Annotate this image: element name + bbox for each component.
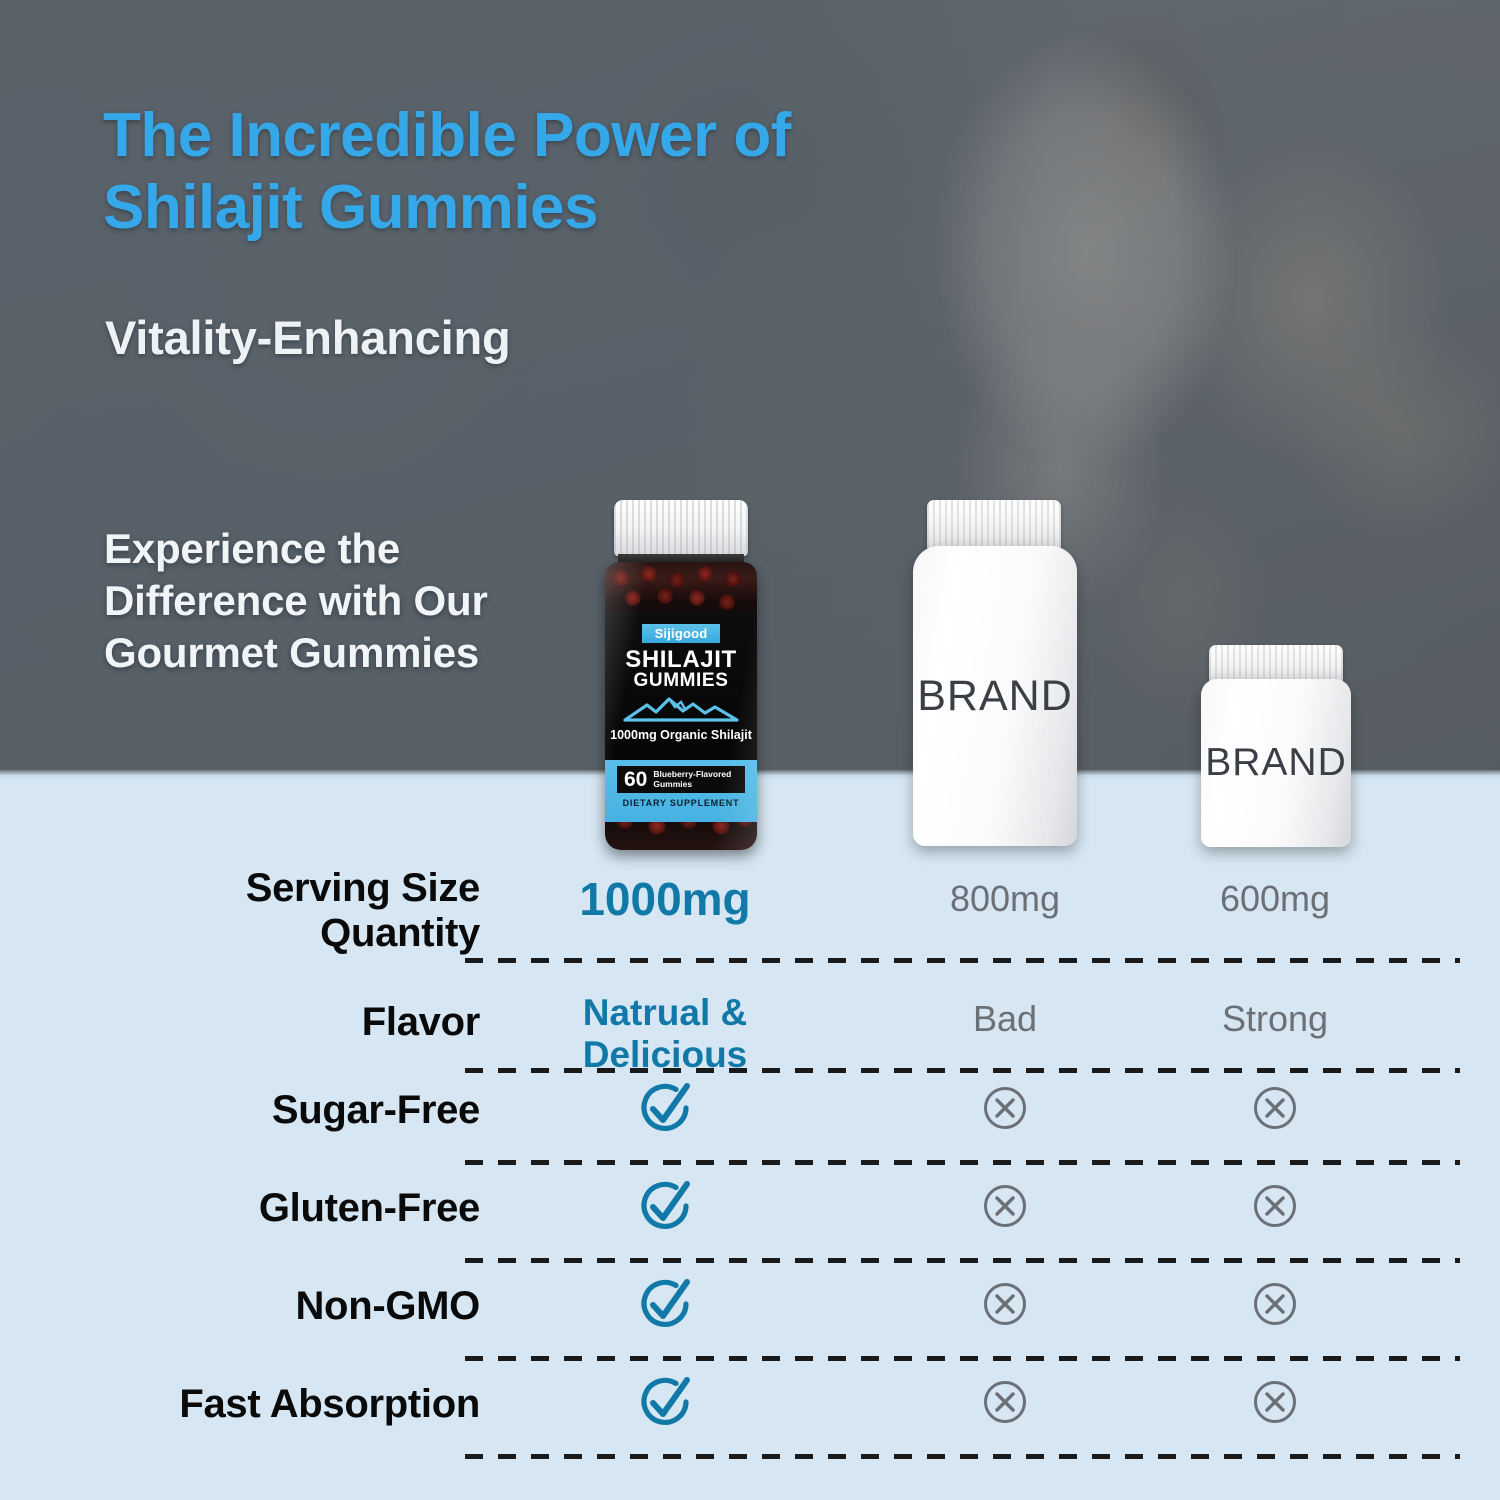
brand-a-value-1: Bad [880, 998, 1130, 1040]
row-label-line-1: Gluten-Free [90, 1186, 480, 1231]
infographic-canvas: The Incredible Power of Shilajit Gummies… [0, 0, 1500, 1500]
headline-line-1: The Incredible Power of [103, 100, 1003, 172]
row-label-line-1: Serving Size [90, 866, 480, 911]
ours-value-3 [500, 1177, 830, 1240]
brand-a-value-3 [880, 1183, 1130, 1234]
brand-badge: Sijigood [642, 624, 720, 643]
competitor-b-cap [1209, 645, 1343, 683]
check-icon [636, 1275, 694, 1333]
row-separator-2 [465, 1160, 1460, 1165]
row-separator-1 [465, 1068, 1460, 1073]
row-separator-4 [465, 1356, 1460, 1361]
brand-b-value-5 [1150, 1379, 1400, 1430]
cross-icon [1252, 1379, 1298, 1425]
row-label-line-1: Flavor [90, 1000, 480, 1045]
row-label-5: Fast Absorption [90, 1382, 480, 1427]
row-label-line-1: Fast Absorption [90, 1382, 480, 1427]
page-title: The Incredible Power of Shilajit Gummies [103, 100, 1003, 244]
brand-b-value-1: Strong [1150, 998, 1400, 1040]
check-icon [636, 1177, 694, 1235]
headline-line-2: Shilajit Gummies [103, 172, 1003, 244]
ours-value-4 [500, 1275, 830, 1338]
cross-icon [982, 1085, 1028, 1131]
product-label-dark: Sijigood SHILAJIT GUMMIES 1000mg Organic… [605, 612, 757, 760]
brand-name: Sijigood [655, 626, 708, 641]
row-label-4: Non-GMO [90, 1284, 480, 1329]
ours-value-5 [500, 1373, 830, 1436]
row-separator-3 [465, 1258, 1460, 1263]
row-label-0: Serving SizeQuantity [90, 866, 480, 956]
mountain-icon [623, 696, 739, 727]
brand-b-value-2 [1150, 1085, 1400, 1136]
brand-a-value-0: 800mg [880, 878, 1130, 920]
brand-b-value-4 [1150, 1281, 1400, 1332]
check-icon [636, 1373, 694, 1431]
pitch-line-1: Experience the [104, 523, 584, 575]
pitch-line-3: Gourmet Gummies [104, 627, 584, 679]
cross-icon [982, 1379, 1028, 1425]
product-cap [614, 500, 748, 556]
product-dosage: 1000mg Organic Shilajit [605, 728, 757, 742]
pitch-line-2: Difference with Our [104, 575, 584, 627]
ours-value-2 [500, 1079, 830, 1142]
cross-icon [1252, 1183, 1298, 1229]
row-separator-5 [465, 1454, 1460, 1459]
check-icon [636, 1079, 694, 1137]
row-label-line-2: Quantity [90, 911, 480, 956]
row-label-line-1: Sugar-Free [90, 1088, 480, 1133]
ours-value-1: Natrual & Delicious [500, 992, 830, 1076]
row-label-line-1: Non-GMO [90, 1284, 480, 1329]
row-label-1: Flavor [90, 1000, 480, 1045]
cross-icon [1252, 1085, 1298, 1131]
row-label-3: Gluten-Free [90, 1186, 480, 1231]
brand-b-value-0: 600mg [1150, 878, 1400, 920]
ours-value-0: 1000mg [500, 872, 830, 926]
row-separator-0 [465, 958, 1460, 963]
cross-icon [1252, 1281, 1298, 1327]
brand-b-value-3 [1150, 1183, 1400, 1234]
brand-a-value-5 [880, 1379, 1130, 1430]
cross-icon [982, 1281, 1028, 1327]
pitch-text: Experience the Difference with Our Gourm… [104, 523, 584, 679]
row-label-2: Sugar-Free [90, 1088, 480, 1133]
product-title-line-2: GUMMIES [605, 670, 757, 692]
competitor-a-cap [927, 500, 1061, 550]
cross-icon [982, 1183, 1028, 1229]
comparison-table: Serving SizeQuantity1000mg800mg600mgFlav… [0, 778, 1500, 1500]
competitor-a-label: BRAND [917, 672, 1073, 721]
brand-a-value-4 [880, 1281, 1130, 1332]
brand-a-value-2 [880, 1085, 1130, 1136]
subheadline: Vitality-Enhancing [105, 310, 905, 365]
